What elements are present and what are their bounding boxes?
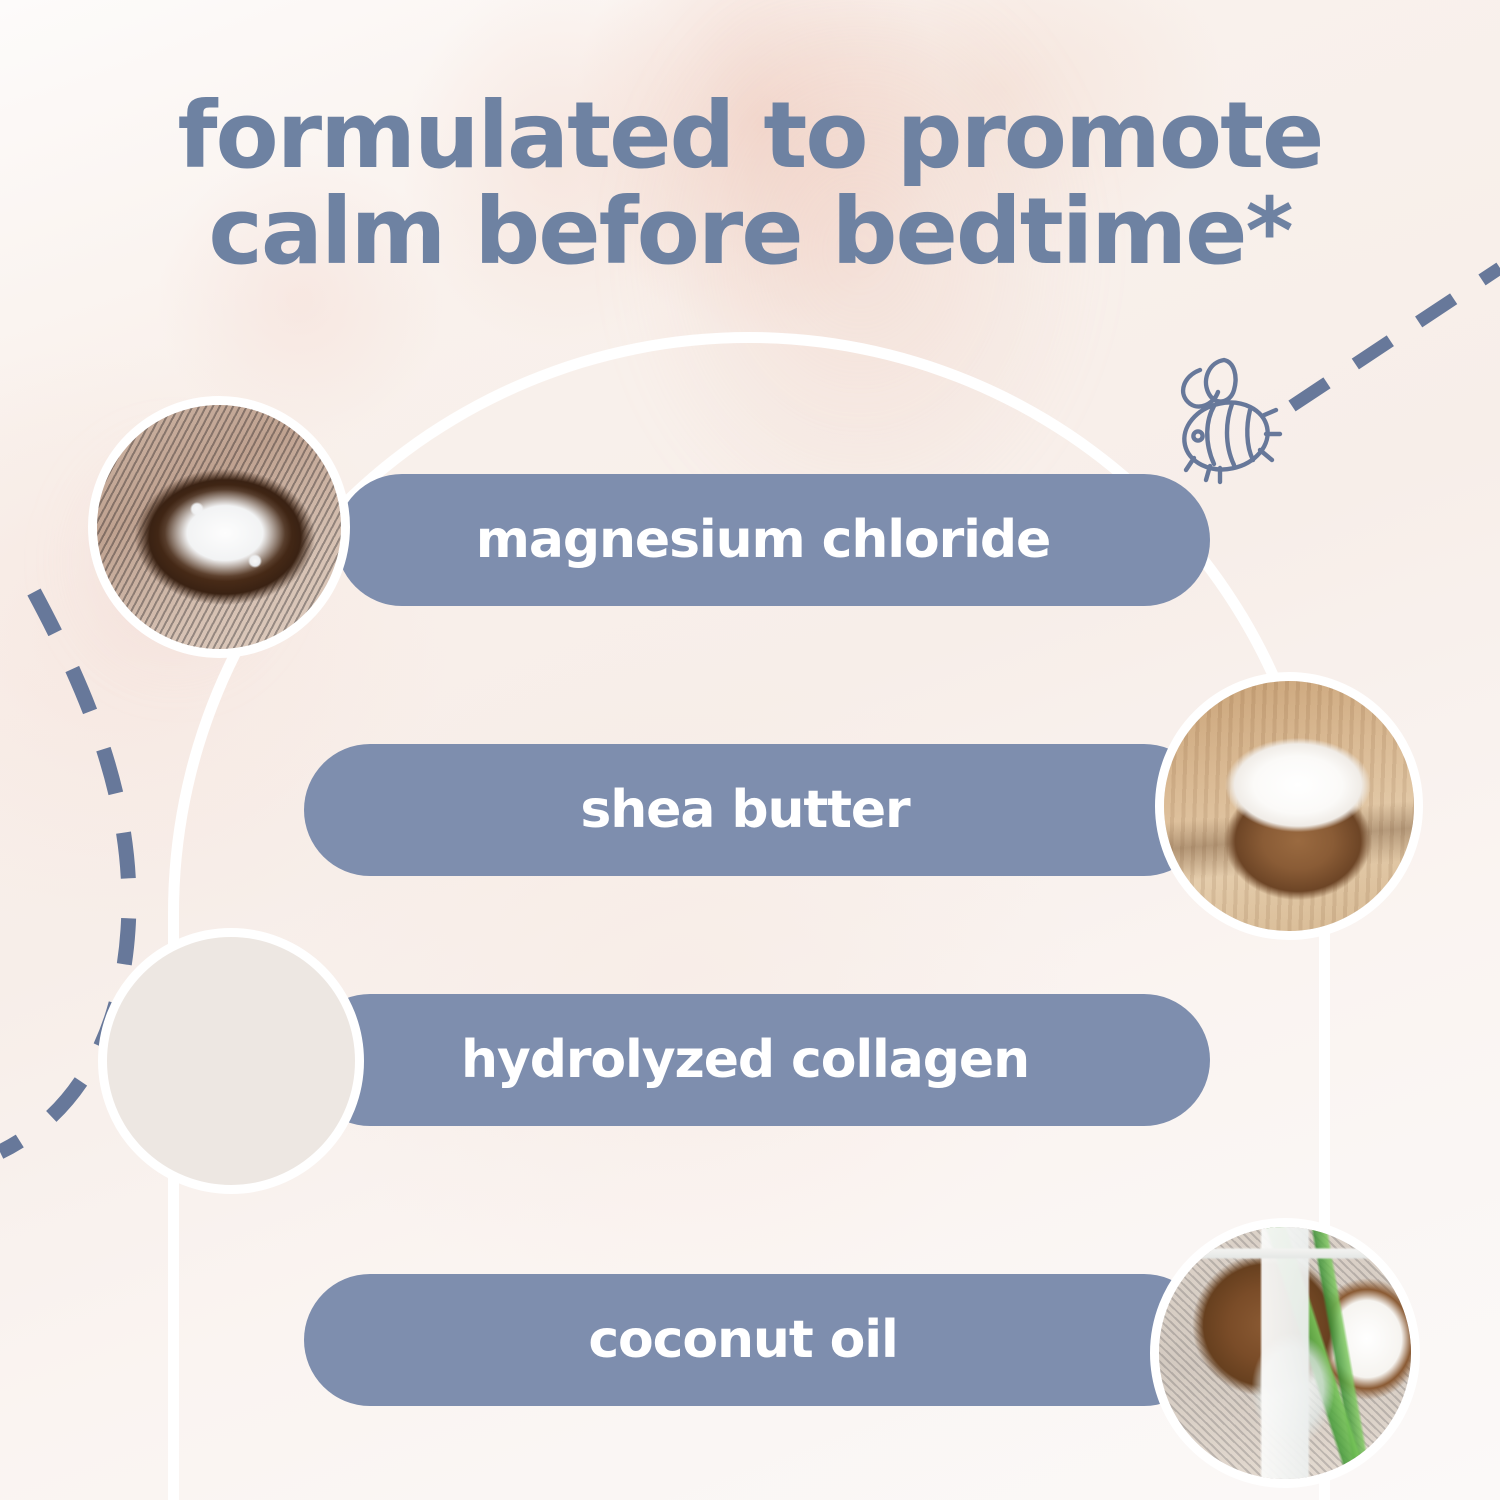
coconut-oil-photo — [1150, 1218, 1420, 1488]
ingredient-pill-shea-butter[interactable]: shea butter — [304, 744, 1210, 876]
ingredient-label: magnesium chloride — [476, 510, 1050, 570]
magnesium-chloride-image — [97, 405, 341, 649]
hydrolyzed-collagen-photo — [98, 928, 364, 1194]
bee-icon — [1158, 348, 1298, 498]
shea-butter-photo — [1155, 672, 1423, 940]
magnesium-chloride-photo — [88, 396, 350, 658]
ingredient-pill-hydrolyzed-collagen[interactable]: hydrolyzed collagen — [304, 994, 1210, 1126]
shea-butter-image — [1164, 681, 1414, 931]
hydrolyzed-collagen-image — [107, 937, 355, 1185]
ingredient-pill-coconut-oil[interactable]: coconut oil — [304, 1274, 1210, 1406]
ingredient-label: coconut oil — [588, 1310, 897, 1370]
coconut-oil-image — [1159, 1227, 1411, 1479]
ingredient-label: hydrolyzed collagen — [461, 1030, 1029, 1090]
ingredient-label: shea butter — [580, 780, 909, 840]
infographic-canvas: formulated to promote calm before bedtim… — [0, 0, 1500, 1500]
page-title: formulated to promote calm before bedtim… — [0, 88, 1500, 279]
ingredient-pill-magnesium-chloride[interactable]: magnesium chloride — [336, 474, 1210, 606]
